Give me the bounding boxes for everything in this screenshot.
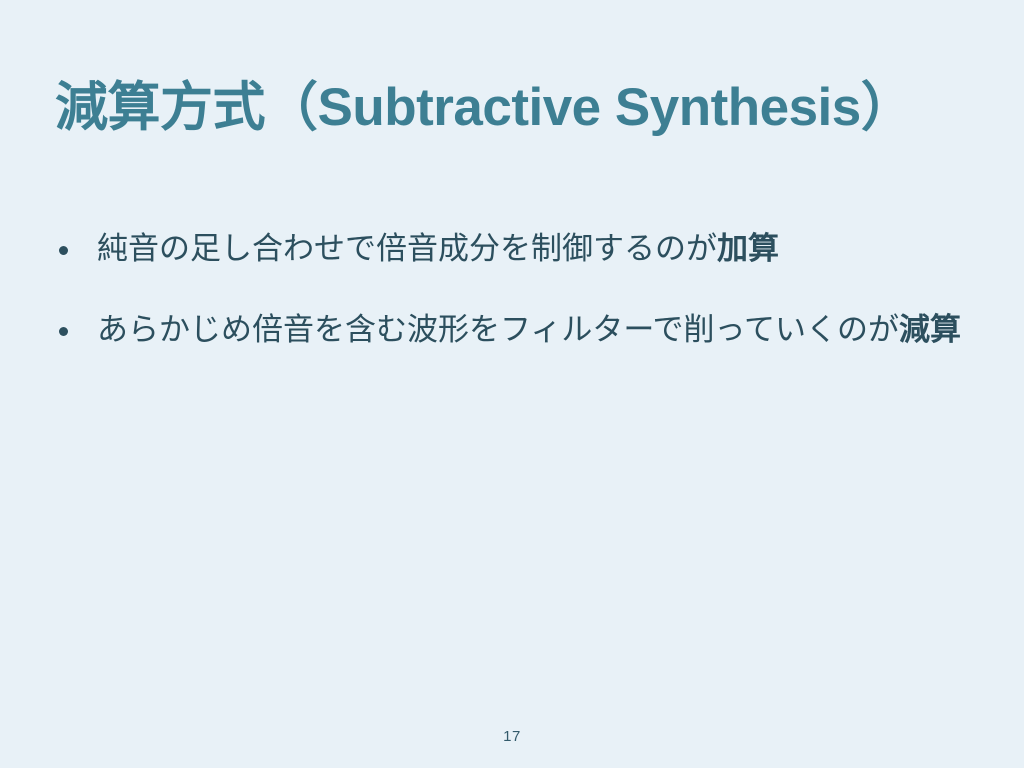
bullet-dot-icon: [59, 327, 68, 336]
list-item-lead-text: 純音の足し合わせで倍音成分を制御するのが: [97, 231, 717, 266]
list-item-emphasis-text: 減算: [899, 312, 961, 347]
list-item-lead-text: あらかじめ倍音を含む波形をフィルターで削っていくのが: [97, 312, 899, 347]
page-number: 17: [0, 728, 1024, 745]
bullet-list: 純音の足し合わせで倍音成分を制御するのが加算 あらかじめ倍音を含む波形をフィルタ…: [55, 228, 985, 390]
slide-title: 減算方式（Subtractive Synthesis）: [55, 78, 975, 139]
list-item: 純音の足し合わせで倍音成分を制御するのが加算: [55, 228, 985, 271]
list-item-emphasis-text: 加算: [717, 231, 779, 266]
list-item: あらかじめ倍音を含む波形をフィルターで削っていくのが減算: [55, 309, 985, 352]
bullet-dot-icon: [59, 246, 68, 255]
presentation-slide: 減算方式（Subtractive Synthesis） 純音の足し合わせで倍音成…: [0, 0, 1024, 768]
